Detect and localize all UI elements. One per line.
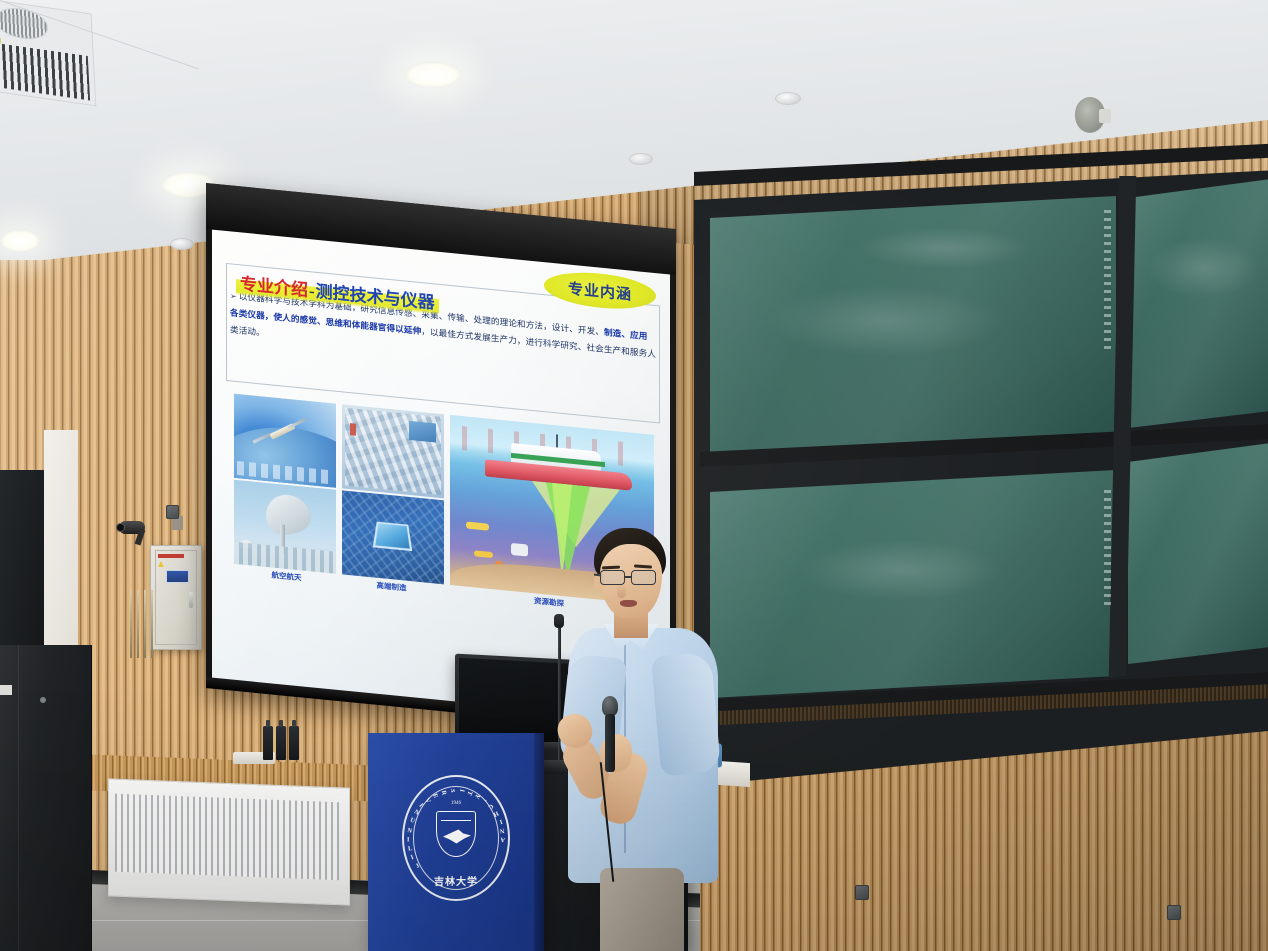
slide-badge-label: 专业内涵 [568,277,632,304]
equipment-cabinet[interactable] [0,645,92,951]
photo-column-manufacturing [342,404,444,584]
chalkboard-panel-top-left [710,196,1116,456]
chalkboard-panel-bottom-right [1128,442,1268,664]
university-seal-icon: J I L I N U N I V E R S I T Y · C H I N [402,775,510,901]
photo-space-station [234,394,336,488]
smoke-detector-icon-3 [170,238,194,250]
downlight-icon-3 [0,230,40,252]
chalkboard-slide-handle-lower[interactable] [1104,490,1111,610]
bottle-2 [276,726,286,760]
downlight-icon-1 [404,62,462,88]
presenter-nose [617,584,626,598]
photo-radio-telescope [234,480,336,574]
chalkboard-panel-bottom-left [710,470,1116,698]
presenter [548,528,718,951]
ledge-items [255,716,365,764]
presenter-mouth [620,600,637,607]
wall-plate-icon-upper [166,505,179,519]
photo-semiconductor-chip [342,490,444,584]
radiator-cover [108,778,350,905]
presenter-right-sleeve [651,652,721,777]
slide-title-red: 专业介绍 [240,274,308,300]
wall-outlet-icon[interactable] [855,885,869,900]
slide-title-dash: - [308,281,316,301]
photo-smart-factory [342,404,444,498]
eyeglasses-icon [598,570,666,586]
smoke-detector-icon-1 [775,92,801,105]
wall-speaker-icon [1075,97,1111,135]
smoke-detector-icon-2 [629,153,653,165]
seal-year: 1946 [451,801,461,806]
chalkboard-slide-handle[interactable] [1104,210,1111,350]
seal-bird-icon [443,828,471,846]
pointer-rods[interactable] [128,590,168,660]
bottle-3 [289,726,299,760]
photo-column-aerospace [234,394,336,574]
chalkboard-panel-top-right [1128,178,1268,428]
wall-outlet-icon-right[interactable] [1167,905,1181,920]
lectern-podium: J I L I N U N I V E R S I T Y · C H I N [368,733,544,951]
lecture-hall-scene: 专业内涵 专业介绍-测控技术与仪器 ➢以仪器科学与技术学科为基础，研究信息传感、… [0,0,1268,951]
seal-chinese-name: 吉林大学 [434,873,478,888]
handheld-microphone-icon[interactable] [602,696,618,772]
bottle-1 [263,726,273,760]
lecture-camera-icon [119,521,159,547]
